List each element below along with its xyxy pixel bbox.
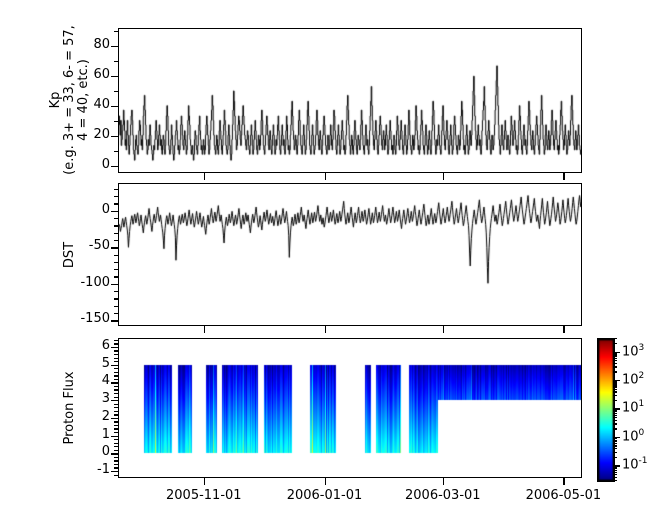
- colorbar-minor-tick: [613, 445, 617, 446]
- kp-x-major-tick: [325, 173, 326, 180]
- dst-x-major-tick: [204, 326, 205, 333]
- dst-y-minor-tick: [114, 269, 118, 270]
- kp-x-major-tick: [563, 173, 564, 180]
- colorbar-major-tick: [613, 380, 620, 381]
- colorbar-minor-tick: [613, 384, 617, 385]
- flux-y-major-tick: [111, 365, 118, 366]
- colorbar-minor-tick: [613, 438, 617, 439]
- colorbar-minor-tick: [613, 395, 617, 396]
- flux-y-minor-tick: [114, 457, 118, 458]
- flux-y-minor-tick: [114, 407, 118, 408]
- flux-y-minor-tick: [114, 343, 118, 344]
- flux-y-minor-tick: [114, 443, 118, 444]
- colorbar-minor-tick: [613, 391, 617, 392]
- flux-y-tick-label: 0: [56, 444, 110, 459]
- colorbar-major-tick: [613, 352, 620, 353]
- flux-y-minor-tick: [114, 439, 118, 440]
- kp-y-major-tick: [111, 106, 118, 107]
- colorbar-minor-tick: [613, 410, 617, 411]
- colorbar-minor-tick: [613, 363, 617, 364]
- dst-y-minor-tick: [114, 233, 118, 234]
- colorbar-minor-tick: [613, 480, 617, 481]
- colorbar-major-tick: [613, 408, 620, 409]
- flux-y-tick-label: 2: [56, 409, 110, 424]
- dst-y-tick-label: 0: [56, 202, 110, 217]
- kp-y-minor-tick: [114, 61, 118, 62]
- dst-y-tick-label: -50: [56, 238, 110, 253]
- colorbar-minor-tick: [613, 440, 617, 441]
- kp-y-minor-tick: [114, 151, 118, 152]
- flux-y-minor-tick: [114, 397, 118, 398]
- colorbar-minor-tick: [613, 366, 617, 367]
- colorbar-tick-label: 101: [622, 399, 644, 415]
- dst-y-minor-tick: [114, 262, 118, 263]
- colorbar-major-tick: [613, 465, 620, 466]
- dst-x-major-tick: [325, 326, 326, 333]
- dst-y-minor-tick: [114, 203, 118, 204]
- kp-y-major-tick: [111, 136, 118, 137]
- colorbar-minor-tick: [613, 411, 617, 412]
- flux-y-minor-tick: [114, 464, 118, 465]
- flux-y-tick-label: 1: [56, 427, 110, 442]
- flux-y-minor-tick: [114, 450, 118, 451]
- dst-y-minor-tick: [114, 291, 118, 292]
- colorbar-minor-tick: [613, 354, 617, 355]
- colorbar-minor-tick: [613, 474, 617, 475]
- flux-y-tick-label: 6: [56, 338, 110, 353]
- proton-flux-heatmap-canvas: [119, 339, 581, 477]
- kp-y-tick-label: 0: [56, 157, 110, 172]
- colorbar-minor-tick: [613, 477, 617, 478]
- flux-y-minor-tick: [114, 411, 118, 412]
- flux-x-major-tick: [325, 478, 326, 485]
- dst-y-minor-tick: [114, 255, 118, 256]
- dst-y-minor-tick: [114, 298, 118, 299]
- dst-y-minor-tick: [114, 189, 118, 190]
- flux-y-tick-label: -1: [56, 462, 110, 477]
- colorbar-major-tick: [613, 437, 620, 438]
- dst-x-major-tick: [563, 326, 564, 333]
- flux-x-tick-label: 2005-11-01: [144, 488, 264, 503]
- flux-y-major-tick: [111, 382, 118, 383]
- flux-y-major-tick: [111, 347, 118, 348]
- kp-y-major-tick: [111, 46, 118, 47]
- flux-y-minor-tick: [114, 354, 118, 355]
- colorbar-minor-tick: [613, 441, 617, 442]
- dst-y-minor-tick: [114, 313, 118, 314]
- dst-y-tick-label: -100: [56, 275, 110, 290]
- flux-y-minor-tick: [114, 340, 118, 341]
- kp-y-minor-tick: [114, 31, 118, 32]
- colorbar-minor-tick: [613, 472, 617, 473]
- flux-y-minor-tick: [114, 432, 118, 433]
- colorbar-minor-tick: [613, 423, 617, 424]
- kp-y-tick-label: 80: [56, 37, 110, 52]
- flux-y-minor-tick: [114, 421, 118, 422]
- kp-y-tick-label: 60: [56, 67, 110, 82]
- flux-y-minor-tick: [114, 446, 118, 447]
- colorbar-minor-tick: [613, 457, 617, 458]
- kp-y-tick-label: 20: [56, 127, 110, 142]
- flux-y-major-tick: [111, 400, 118, 401]
- dst-y-minor-tick: [114, 306, 118, 307]
- flux-x-major-tick: [204, 478, 205, 485]
- flux-y-major-tick: [111, 471, 118, 472]
- flux-y-minor-tick: [114, 375, 118, 376]
- dst-x-major-tick: [443, 326, 444, 333]
- dst-y-major-tick: [111, 284, 118, 285]
- flux-y-tick-label: 3: [56, 391, 110, 406]
- colorbar-tick-label: 102: [622, 371, 644, 387]
- dst-y-major-tick: [111, 211, 118, 212]
- flux-y-minor-tick: [114, 389, 118, 390]
- colorbar-minor-tick: [613, 389, 617, 390]
- colorbar-tick-label: 103: [622, 343, 644, 359]
- flux-y-major-tick: [111, 453, 118, 454]
- kp-series-canvas: [119, 29, 581, 172]
- colorbar-minor-tick: [613, 468, 617, 469]
- dst-y-major-tick: [111, 320, 118, 321]
- colorbar-minor-tick: [613, 415, 617, 416]
- flux-x-tick-label: 2006-05-01: [503, 488, 623, 503]
- colorbar-minor-tick: [613, 371, 617, 372]
- colorbar-minor-tick: [613, 443, 617, 444]
- flux-y-tick-label: 4: [56, 373, 110, 388]
- dst-y-minor-tick: [114, 218, 118, 219]
- flux-y-minor-tick: [114, 379, 118, 380]
- flux-y-major-tick: [111, 436, 118, 437]
- kp-y-major-tick: [111, 166, 118, 167]
- figure-root: Kp (e.g. 3+ = 33, 6- = 57, 4 = 40, etc.)…: [0, 0, 665, 523]
- flux-y-major-tick: [111, 418, 118, 419]
- flux-y-minor-tick: [114, 425, 118, 426]
- colorbar-minor-tick: [613, 420, 617, 421]
- flux-x-tick-label: 2006-03-01: [383, 488, 503, 503]
- colorbar-minor-tick: [613, 448, 617, 449]
- flux-y-minor-tick: [114, 428, 118, 429]
- flux-y-minor-tick: [114, 460, 118, 461]
- kp-x-major-tick: [204, 173, 205, 180]
- flux-y-minor-tick: [114, 386, 118, 387]
- colorbar-minor-tick: [613, 358, 617, 359]
- colorbar-minor-tick: [613, 413, 617, 414]
- kp-y-major-tick: [111, 76, 118, 77]
- colorbar-minor-tick: [613, 381, 617, 382]
- colorbar-minor-tick: [613, 343, 617, 344]
- kp-y-tick-label: 40: [56, 97, 110, 112]
- colorbar-minor-tick: [613, 466, 617, 467]
- colorbar-minor-tick: [613, 386, 617, 387]
- colorbar-minor-tick: [613, 417, 617, 418]
- colorbar-minor-tick: [613, 428, 617, 429]
- colorbar-minor-tick: [613, 356, 617, 357]
- flux-y-minor-tick: [114, 361, 118, 362]
- flux-y-minor-tick: [114, 404, 118, 405]
- flux-x-major-tick: [563, 478, 564, 485]
- flux-y-minor-tick: [114, 393, 118, 394]
- dst-y-minor-tick: [114, 276, 118, 277]
- kp-y-minor-tick: [114, 91, 118, 92]
- colorbar-minor-tick: [613, 452, 617, 453]
- colorbar-minor-tick: [613, 353, 617, 354]
- dst-series-canvas: [119, 184, 581, 325]
- colorbar-tick-label: 100: [622, 428, 644, 444]
- colorbar-minor-tick: [613, 400, 617, 401]
- colorbar-minor-tick: [613, 360, 617, 361]
- dst-y-minor-tick: [114, 196, 118, 197]
- kp-x-major-tick: [443, 173, 444, 180]
- dst-y-minor-tick: [114, 240, 118, 241]
- dst-y-minor-tick: [114, 225, 118, 226]
- flux-x-major-tick: [443, 478, 444, 485]
- flux-y-minor-tick: [114, 368, 118, 369]
- colorbar-minor-tick: [613, 383, 617, 384]
- colorbar-minor-tick: [613, 338, 617, 339]
- flux-y-minor-tick: [114, 414, 118, 415]
- flux-y-minor-tick: [114, 372, 118, 373]
- flux-y-tick-label: 5: [56, 356, 110, 371]
- flux-y-minor-tick: [114, 350, 118, 351]
- dst-y-tick-label: -150: [56, 311, 110, 326]
- flux-y-minor-tick: [114, 467, 118, 468]
- flux-y-minor-tick: [114, 358, 118, 359]
- dst-y-major-tick: [111, 247, 118, 248]
- colorbar-minor-tick: [613, 470, 617, 471]
- flux-y-minor-tick: [114, 475, 118, 476]
- kp-y-minor-tick: [114, 121, 118, 122]
- flux-x-tick-label: 2006-01-01: [265, 488, 385, 503]
- colorbar-tick-label: 10-1: [622, 456, 648, 472]
